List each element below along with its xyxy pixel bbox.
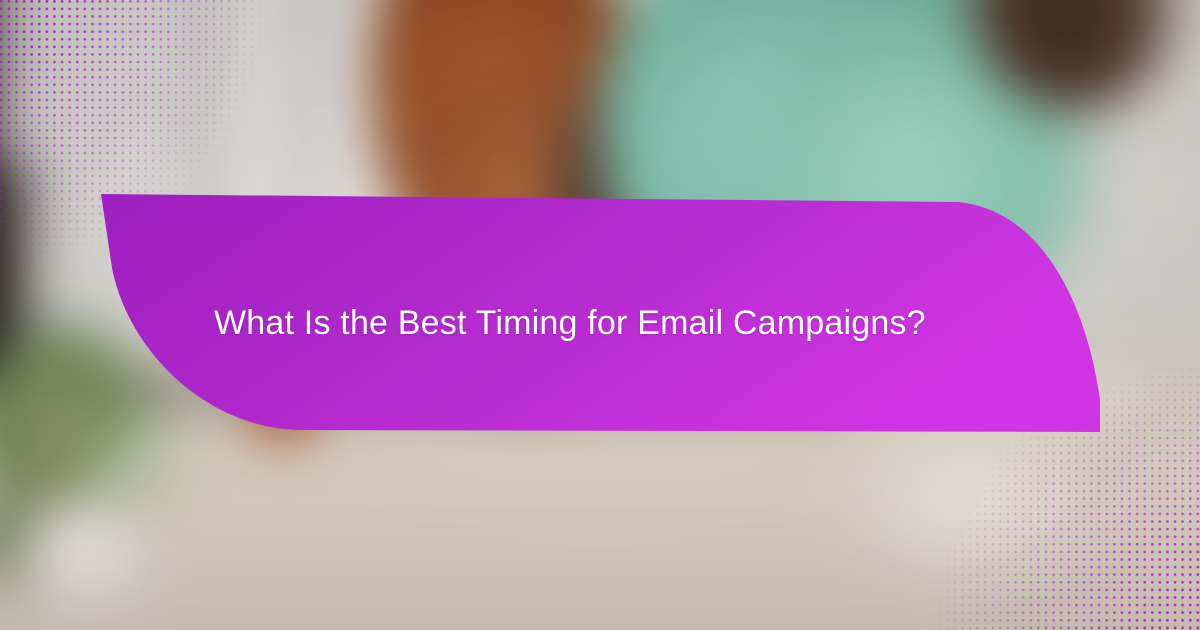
page-title: What Is the Best Timing for Email Campai… [214, 303, 1014, 344]
social-card: What Is the Best Timing for Email Campai… [0, 0, 1200, 630]
